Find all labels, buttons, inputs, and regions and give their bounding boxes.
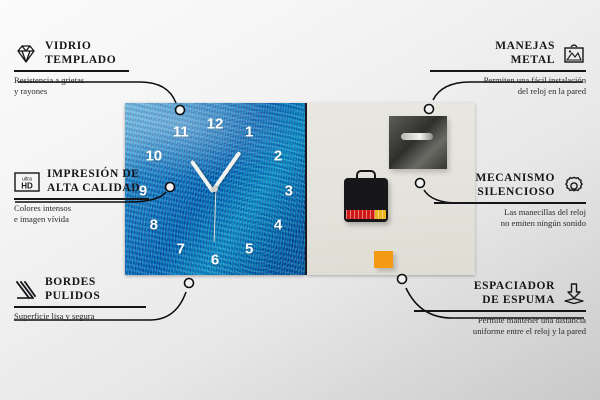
clock-numeral: 12	[207, 115, 224, 132]
divider	[14, 306, 146, 307]
clock-numeral: 10	[145, 148, 162, 165]
feature-title: ESPACIADORDE ESPUMA	[474, 280, 555, 307]
infographic-stage: 12 1 2 3 4 5 6 7 8 9 10 11	[0, 0, 600, 400]
clock-numeral: 4	[274, 217, 282, 234]
feature-bordes-pulidos[interactable]: BORDESPULIDOS Superficie lisa y segura	[14, 276, 146, 322]
feature-impresion-alta-calidad[interactable]: ultra HD IMPRESIÓN DEALTA CALIDAD Colore…	[14, 168, 149, 226]
clock-numeral: 1	[245, 124, 253, 141]
clock-hour-hand	[190, 160, 215, 193]
feature-mecanismo-silencioso[interactable]: MECANISMOSILENCIOSO Las manecillas del r…	[434, 172, 586, 230]
clock-numeral: 11	[173, 124, 189, 141]
product-photo: 12 1 2 3 4 5 6 7 8 9 10 11	[125, 103, 475, 275]
clock-numeral: 2	[274, 148, 282, 165]
mechanism-tab	[356, 170, 376, 180]
feature-title: IMPRESIÓN DEALTA CALIDAD	[47, 168, 140, 195]
clock-minute-hand	[212, 151, 242, 191]
feature-description: Las manecillas del relojno emiten ningún…	[434, 207, 586, 230]
feature-description: Permite mantener una distanciauniforme e…	[414, 315, 586, 338]
divider	[434, 202, 586, 203]
foam-spacer-icon	[562, 283, 586, 305]
feature-manejas-metal[interactable]: MANEJASMETAL Permiten una fácil instalac…	[430, 40, 586, 98]
clock-face: 12 1 2 3 4 5 6 7 8 9 10 11	[125, 103, 305, 275]
divider	[414, 310, 586, 311]
clock-mechanism-part	[344, 178, 388, 222]
feature-title: MECANISMOSILENCIOSO	[475, 172, 555, 199]
mechanism-battery	[346, 210, 386, 219]
clock-numeral: 8	[150, 217, 158, 234]
feature-title: VIDRIOTEMPLADO	[45, 40, 116, 67]
clock-numeral: 5	[245, 241, 253, 258]
divider	[430, 70, 586, 71]
clock-panel: 12 1 2 3 4 5 6 7 8 9 10 11	[125, 103, 305, 275]
clock-second-hand	[213, 190, 216, 242]
feature-title: BORDESPULIDOS	[45, 276, 100, 303]
feature-description: Resistencia a grietasy rayones	[14, 75, 129, 98]
divider	[14, 70, 129, 71]
metal-hanger-part	[389, 116, 447, 169]
feature-espaciador-espuma[interactable]: ESPACIADORDE ESPUMA Permite mantener una…	[414, 280, 586, 338]
clock-numeral: 6	[211, 251, 219, 268]
ultra-hd-icon: ultra HD	[14, 171, 40, 193]
feature-vidrio-templado[interactable]: VIDRIOTEMPLADO Resistencia a grietasy ra…	[14, 40, 129, 98]
foam-spacer-part	[374, 251, 393, 268]
svg-text:HD: HD	[21, 181, 33, 190]
divider	[14, 198, 149, 199]
clock-numeral: 7	[177, 241, 185, 258]
clock-numeral: 3	[285, 182, 293, 199]
feature-title: MANEJASMETAL	[495, 40, 555, 67]
picture-hanger-icon	[562, 43, 586, 65]
gear-icon	[562, 175, 586, 197]
feature-description: Colores intensose imagen vívida	[14, 203, 149, 226]
clock-center-hub	[212, 186, 218, 192]
feature-description: Superficie lisa y segura	[14, 311, 146, 323]
feature-description: Permiten una fácil instalacióndel reloj …	[430, 75, 586, 98]
diamond-icon	[14, 43, 38, 65]
hanger-slot	[401, 133, 433, 140]
polished-edges-icon	[14, 279, 38, 301]
